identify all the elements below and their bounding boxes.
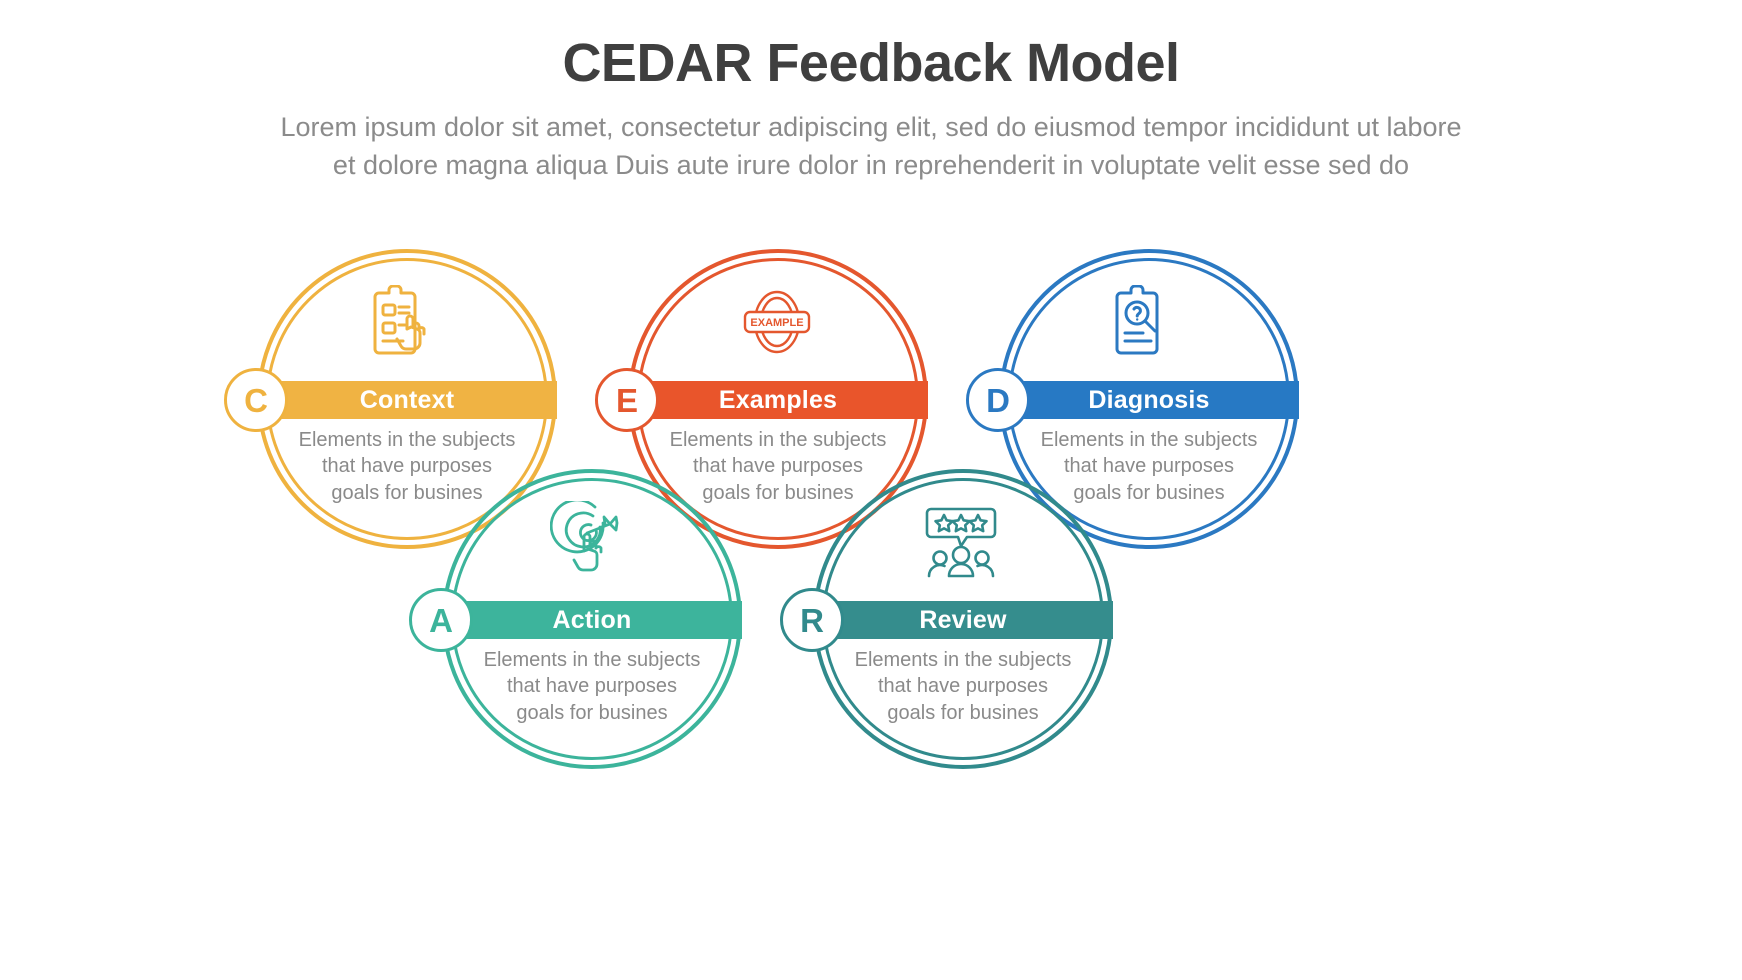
review-letter: R [800, 604, 824, 637]
review-ring-outer [813, 469, 1113, 769]
diagnosis-letter-badge[interactable]: D [966, 368, 1030, 432]
review-title-bar: Review [813, 601, 1113, 639]
diagnosis-description: Elements in the subjects that have purpo… [999, 427, 1299, 506]
clipboard-question-magnifier-icon [1109, 285, 1189, 365]
examples-ring-inner [637, 258, 919, 540]
diagnosis-label: Diagnosis [1088, 386, 1209, 415]
diagnosis-desc-line-3: goals for busines [999, 480, 1299, 506]
diagnosis-desc-line-2: that have purposes [999, 453, 1299, 479]
examples-label: Examples [719, 386, 837, 415]
examples-desc-line-1: Elements in the subjects [628, 427, 928, 453]
context-ring-inner [266, 258, 548, 540]
review-desc-line-2: that have purposes [813, 673, 1113, 699]
context-letter-badge[interactable]: C [224, 368, 288, 432]
examples-desc-line-2: that have purposes [628, 453, 928, 479]
context-description: Elements in the subjects that have purpo… [257, 427, 557, 506]
examples-ring-outer [628, 249, 928, 549]
review-desc-line-3: goals for busines [813, 700, 1113, 726]
diagnosis-letter: D [986, 384, 1010, 417]
examples-title-bar: Examples [628, 381, 928, 419]
target-click-icon [550, 501, 634, 585]
context-label: Context [360, 386, 454, 415]
subtitle-line-2: et dolore magna aliqua Duis aute irure d… [141, 147, 1601, 184]
example-stamp-icon: EXAMPLE [738, 289, 818, 361]
examples-letter-badge[interactable]: E [595, 368, 659, 432]
review-description: Elements in the subjects that have purpo… [813, 647, 1113, 726]
examples-description: Elements in the subjects that have purpo… [628, 427, 928, 506]
svg-text:EXAMPLE: EXAMPLE [750, 317, 803, 329]
action-ring-outer [442, 469, 742, 769]
action-letter: A [429, 604, 453, 637]
context-letter: C [244, 384, 268, 417]
node-context[interactable]: Context C Elements in the subjects that … [257, 249, 557, 549]
action-description: Elements in the subjects that have purpo… [442, 647, 742, 726]
action-letter-badge[interactable]: A [409, 588, 473, 652]
subtitle-line-1: Lorem ipsum dolor sit amet, consectetur … [141, 109, 1601, 146]
review-desc-line-1: Elements in the subjects [813, 647, 1113, 673]
node-review[interactable]: Review R Elements in the subjects that h… [813, 469, 1113, 769]
star-rating-people-icon [921, 503, 1005, 587]
diagnosis-ring-outer [999, 249, 1299, 549]
context-ring-outer [257, 249, 557, 549]
review-label: Review [919, 606, 1006, 635]
action-desc-line-3: goals for busines [442, 700, 742, 726]
action-ring-inner [451, 478, 733, 760]
node-examples[interactable]: EXAMPLE Examples E Elements in the subje… [628, 249, 928, 549]
action-desc-line-1: Elements in the subjects [442, 647, 742, 673]
context-desc-line-1: Elements in the subjects [257, 427, 557, 453]
node-action[interactable]: Action A Elements in the subjects that h… [442, 469, 742, 769]
node-diagnosis[interactable]: Diagnosis D Elements in the subjects tha… [999, 249, 1299, 549]
context-title-bar: Context [257, 381, 557, 419]
header: CEDAR Feedback Model Lorem ipsum dolor s… [0, 0, 1742, 184]
page-subtitle: Lorem ipsum dolor sit amet, consectetur … [141, 109, 1601, 184]
action-desc-line-2: that have purposes [442, 673, 742, 699]
diagnosis-desc-line-1: Elements in the subjects [999, 427, 1299, 453]
context-desc-line-2: that have purposes [257, 453, 557, 479]
diagnosis-title-bar: Diagnosis [999, 381, 1299, 419]
examples-desc-line-3: goals for busines [628, 480, 928, 506]
page-title: CEDAR Feedback Model [0, 34, 1742, 93]
review-ring-inner [822, 478, 1104, 760]
diagnosis-ring-inner [1008, 258, 1290, 540]
context-desc-line-3: goals for busines [257, 480, 557, 506]
clipboard-checklist-hand-icon [367, 285, 447, 365]
review-letter-badge[interactable]: R [780, 588, 844, 652]
examples-letter: E [616, 384, 638, 417]
action-label: Action [553, 606, 632, 635]
action-title-bar: Action [442, 601, 742, 639]
